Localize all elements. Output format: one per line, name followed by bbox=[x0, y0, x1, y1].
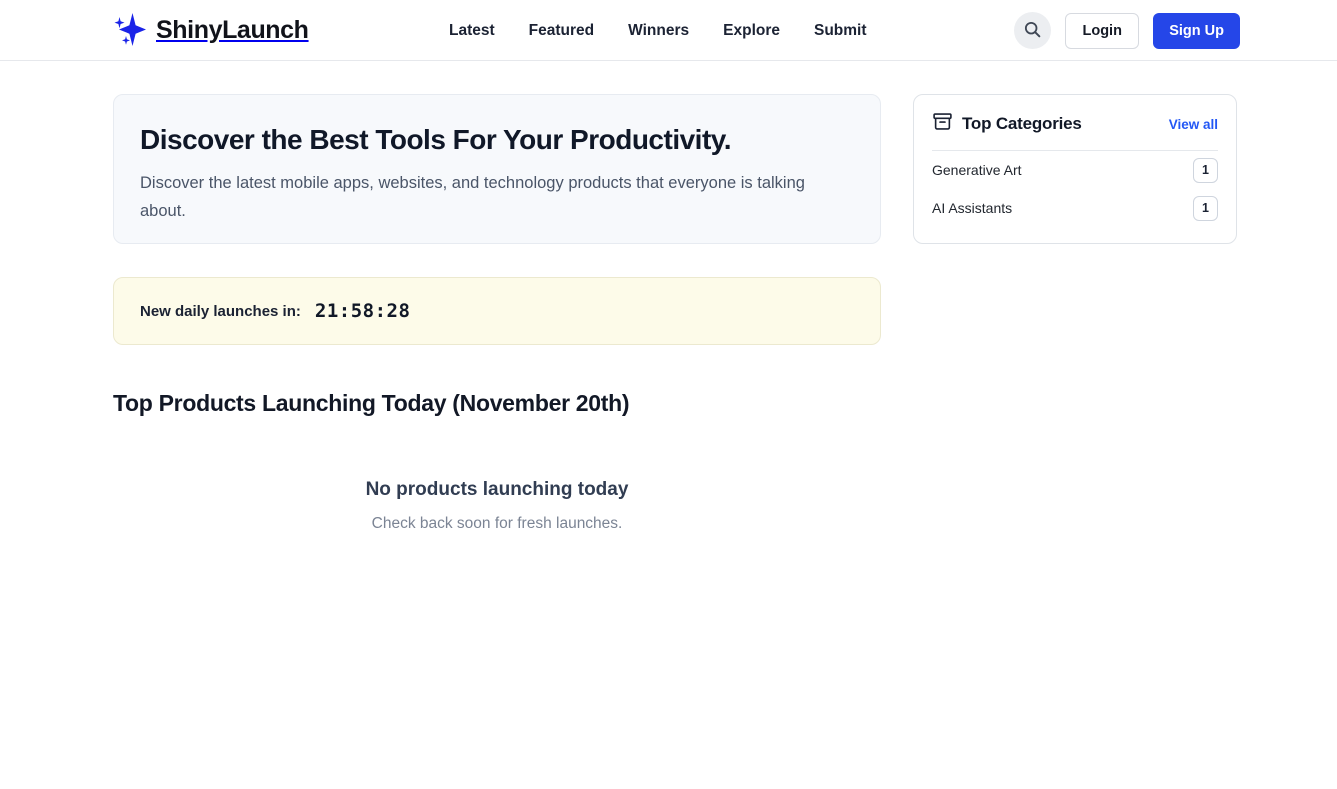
nav-item-submit[interactable]: Submit bbox=[814, 22, 867, 40]
category-row-generative-art[interactable]: Generative Art 1 bbox=[932, 151, 1218, 189]
header-actions: Login Sign Up bbox=[1014, 0, 1240, 61]
search-icon bbox=[1023, 20, 1042, 42]
empty-state-title: No products launching today bbox=[113, 479, 881, 501]
search-button[interactable] bbox=[1014, 12, 1051, 49]
hero-subtitle: Discover the latest mobile apps, website… bbox=[140, 169, 830, 225]
category-row-ai-assistants[interactable]: AI Assistants 1 bbox=[932, 189, 1218, 227]
hero-title: Discover the Best Tools For Your Product… bbox=[140, 123, 854, 157]
sidebar-column: Top Categories View all Generative Art 1… bbox=[913, 94, 1237, 244]
section-title: Top Products Launching Today (November 2… bbox=[113, 390, 881, 417]
category-count-badge: 1 bbox=[1193, 158, 1218, 183]
top-categories-card: Top Categories View all Generative Art 1… bbox=[913, 94, 1237, 244]
empty-state: No products launching today Check back s… bbox=[113, 479, 881, 533]
empty-state-subtitle: Check back soon for fresh launches. bbox=[113, 515, 881, 533]
countdown-banner: New daily launches in: 21:58:28 bbox=[113, 277, 881, 345]
archive-box-icon bbox=[932, 111, 953, 137]
main-nav: Latest Featured Winners Explore Submit bbox=[449, 0, 867, 61]
main-column: Discover the Best Tools For Your Product… bbox=[113, 94, 881, 533]
brand-logo-link[interactable]: ShinyLaunch bbox=[112, 10, 309, 50]
hero-banner: Discover the Best Tools For Your Product… bbox=[113, 94, 881, 244]
category-name: Generative Art bbox=[932, 162, 1022, 178]
top-categories-header: Top Categories View all bbox=[932, 111, 1218, 151]
site-header: ShinyLaunch Latest Featured Winners Expl… bbox=[0, 0, 1337, 61]
view-all-link[interactable]: View all bbox=[1169, 117, 1218, 132]
category-count-badge: 1 bbox=[1193, 196, 1218, 221]
sparkle-star-icon bbox=[112, 10, 150, 50]
page-content: Discover the Best Tools For Your Product… bbox=[0, 61, 1337, 533]
nav-item-latest[interactable]: Latest bbox=[449, 22, 495, 40]
nav-item-explore[interactable]: Explore bbox=[723, 22, 780, 40]
brand-name: ShinyLaunch bbox=[156, 16, 309, 45]
top-categories-title: Top Categories bbox=[962, 114, 1160, 134]
countdown-timer: 21:58:28 bbox=[315, 300, 411, 322]
category-name: AI Assistants bbox=[932, 200, 1012, 216]
signup-button[interactable]: Sign Up bbox=[1153, 13, 1240, 49]
login-button[interactable]: Login bbox=[1065, 13, 1139, 49]
nav-item-featured[interactable]: Featured bbox=[529, 22, 594, 40]
nav-item-winners[interactable]: Winners bbox=[628, 22, 689, 40]
countdown-label: New daily launches in: bbox=[140, 303, 301, 320]
